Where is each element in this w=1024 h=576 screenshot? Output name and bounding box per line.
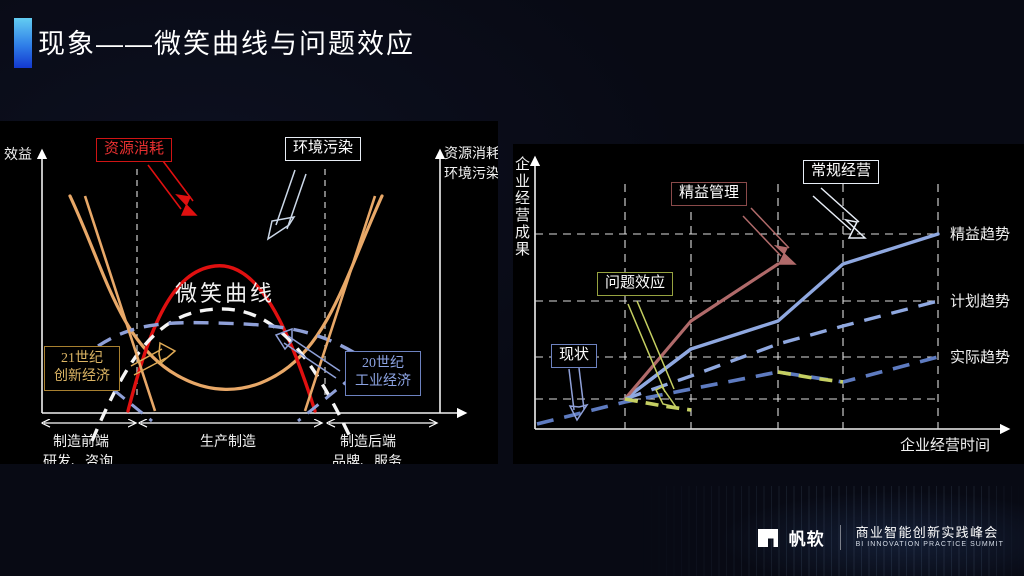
callout-century21[interactable]: 21世纪 创新经济: [44, 346, 120, 391]
callout-century20-line2: 工业经济: [355, 373, 411, 391]
brand-logo: 帆软 商业智能创新实践峰会 BI INNOVATION PRACTICE SUM…: [756, 525, 1004, 550]
callout-problem-effect[interactable]: 问题效应: [597, 272, 673, 296]
summit-name-en: BI INNOVATION PRACTICE SUMMIT: [856, 541, 1004, 550]
callout-environmental-pollution[interactable]: 环境污染: [285, 137, 361, 161]
left-y-axis-label: 效益: [4, 144, 32, 164]
smile-curve-center-label: 微笑曲线: [175, 276, 275, 308]
left-y-axis-right-label-1: 资源消耗: [444, 143, 498, 163]
resource-callout-arrow: [148, 157, 196, 215]
callout-century20-line1: 20世纪: [355, 355, 411, 373]
lean-mgmt-callout-arrow: [743, 208, 795, 264]
right-label-plan: 计划趋势: [950, 290, 1010, 311]
footer: 帆软 商业智能创新实践峰会 BI INNOVATION PRACTICE SUM…: [0, 486, 1024, 576]
series-actual-trend: [537, 357, 938, 424]
right-y-axis-label: 企业经营成果: [513, 156, 532, 258]
page-title: 现象——微笑曲线与问题效应: [38, 22, 415, 61]
callout-century20[interactable]: 20世纪 工业经济: [345, 351, 421, 396]
callout-status-quo[interactable]: 现状: [551, 344, 597, 368]
segment-label-1-top: 制造前端: [53, 431, 109, 451]
series-problem-effect-dip-1: [625, 399, 691, 410]
segment-label-3-top: 制造后端: [340, 431, 396, 451]
fanruan-logo-icon: [756, 526, 780, 550]
callout-resource-consumption[interactable]: 资源消耗: [96, 138, 172, 162]
series-problem-effect-dip-2: [778, 372, 843, 382]
logo-divider: [840, 525, 841, 550]
pollution-callout-arrow: [268, 170, 306, 239]
callout-routine-operations[interactable]: 常规经营: [803, 160, 879, 184]
logo-name: 帆软: [789, 525, 825, 550]
problem-effect-chart-panel: 企业经营成果 企业经营时间 精益趋势 计划趋势 实际趋势 常规经营 精益管理 问…: [513, 144, 1024, 464]
callout-century21-line2: 创新经济: [54, 368, 110, 386]
right-label-lean: 精益趋势: [950, 223, 1010, 244]
callout-lean-management[interactable]: 精益管理: [671, 182, 747, 206]
segment-label-3-bottom: 品牌、服务: [332, 451, 402, 464]
callout-century21-line1: 21世纪: [54, 350, 110, 368]
right-label-actual: 实际趋势: [950, 346, 1010, 367]
summit-name-cn: 商业智能创新实践峰会: [856, 525, 1004, 541]
smile-curve-chart-panel: 效益 资源消耗 环境污染 资源消耗 环境污染 21世纪 创新经济 20世纪 工业…: [0, 121, 498, 464]
problem-effect-svg: [513, 144, 1024, 464]
segment-label-1-bottom: 研发、咨询: [43, 451, 113, 464]
routine-ops-callout-arrow: [813, 188, 865, 238]
slide-root: 现象——微笑曲线与问题效应: [0, 0, 1024, 576]
right-x-axis-label: 企业经营时间: [900, 434, 990, 455]
title-accent-bar: [14, 18, 32, 68]
left-y-axis-right-label-2: 环境污染: [444, 163, 498, 183]
segment-label-2-top: 生产制造: [200, 431, 256, 451]
